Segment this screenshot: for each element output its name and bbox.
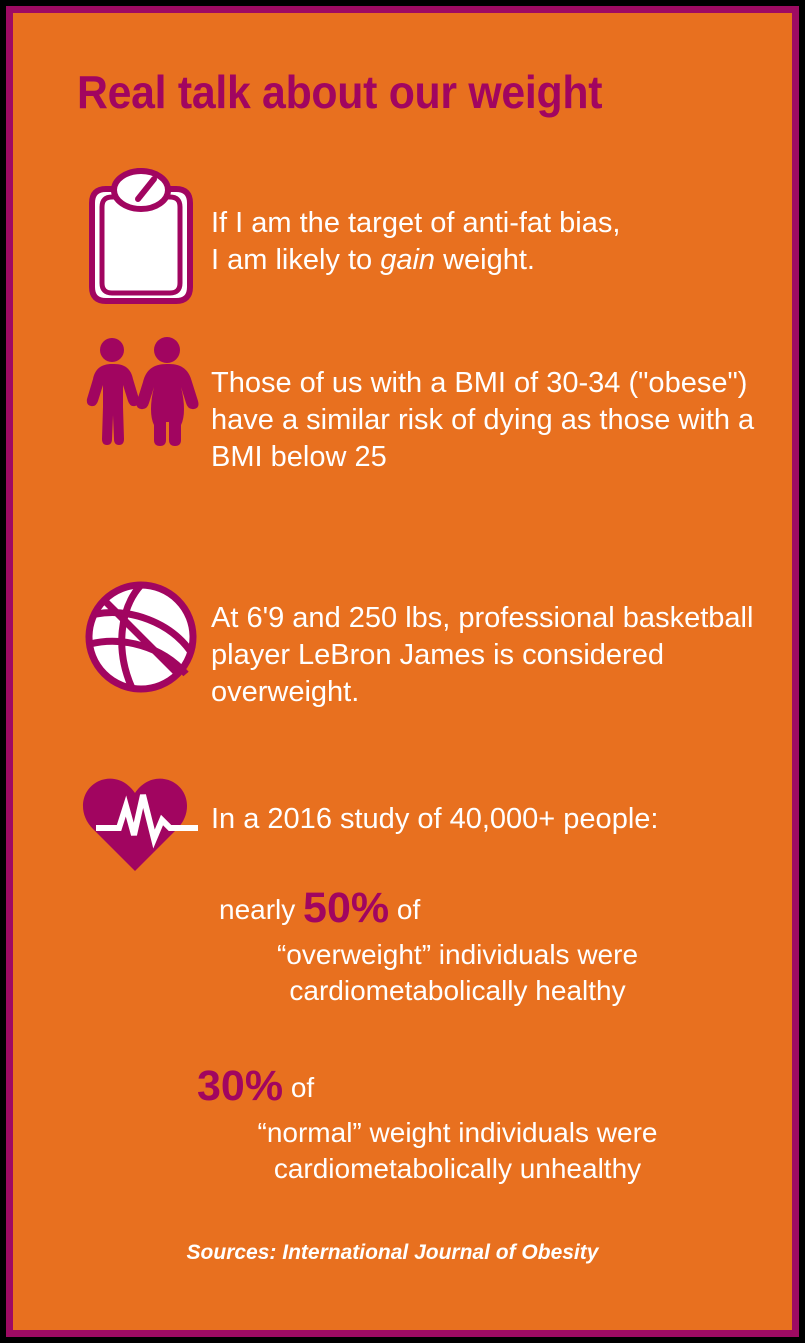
fact-text-lebron-james: At 6'9 and 250 lbs, professional basketb… bbox=[211, 578, 768, 711]
stat-body-line-2: cardiometabolically unhealthy bbox=[274, 1153, 641, 1184]
fact-line-2-emphasis: gain bbox=[380, 244, 435, 276]
fact-text-2016-study: In a 2016 study of 40,000+ people: bbox=[211, 773, 768, 838]
icon-cell bbox=[71, 578, 211, 696]
stat-block-overweight: nearly 50% of “overweight” individuals w… bbox=[163, 881, 752, 1010]
stat-lead-suffix: of bbox=[283, 1072, 314, 1103]
fact-row-lebron-james: At 6'9 and 250 lbs, professional basketb… bbox=[71, 578, 768, 711]
fact-line-2-after: weight. bbox=[435, 244, 535, 276]
poster-frame-outer: Real talk about our weight If I am the t… bbox=[0, 0, 805, 1343]
poster-canvas: Real talk about our weight If I am the t… bbox=[13, 13, 792, 1330]
fact-line-2-before: I am likely to bbox=[211, 244, 380, 276]
icon-cell bbox=[71, 163, 211, 308]
fact-row-2016-study: In a 2016 study of 40,000+ people: bbox=[71, 773, 768, 875]
stat-value: 30% bbox=[197, 1062, 283, 1110]
fact-text-anti-fat-bias: If I am the target of anti-fat bias, I a… bbox=[211, 163, 768, 279]
icon-cell bbox=[71, 333, 211, 453]
fact-row-anti-fat-bias: If I am the target of anti-fat bias, I a… bbox=[71, 163, 768, 308]
stat-body-line-1: “overweight” individuals were bbox=[277, 939, 638, 970]
stat-lead-line: 30% of bbox=[163, 1059, 752, 1115]
stat-lead-prefix: nearly bbox=[219, 894, 303, 925]
stat-value: 50% bbox=[303, 884, 389, 932]
two-people-icon bbox=[81, 333, 201, 453]
basketball-icon bbox=[82, 578, 200, 696]
stat-lead-suffix: of bbox=[389, 894, 420, 925]
stat-body-line-1: “normal” weight individuals were bbox=[258, 1117, 658, 1148]
heart-pulse-icon bbox=[79, 773, 203, 875]
stat-block-normal-weight: 30% of “normal” weight individuals were … bbox=[163, 1059, 752, 1188]
fact-row-bmi-mortality: Those of us with a BMI of 30-34 ("obese"… bbox=[71, 333, 768, 476]
stat-body-line-2: cardiometabolically healthy bbox=[289, 975, 625, 1006]
weight-scale-icon bbox=[82, 163, 200, 308]
fact-text-bmi-mortality: Those of us with a BMI of 30-34 ("obese"… bbox=[211, 333, 768, 476]
poster-frame-inner: Real talk about our weight If I am the t… bbox=[6, 6, 799, 1337]
source-citation: Sources: International Journal of Obesit… bbox=[13, 1241, 792, 1265]
page-title: Real talk about our weight bbox=[77, 68, 602, 116]
stat-lead-line: nearly 50% of bbox=[163, 881, 752, 937]
fact-line-1: If I am the target of anti-fat bias, bbox=[211, 207, 620, 239]
icon-cell bbox=[71, 773, 211, 875]
